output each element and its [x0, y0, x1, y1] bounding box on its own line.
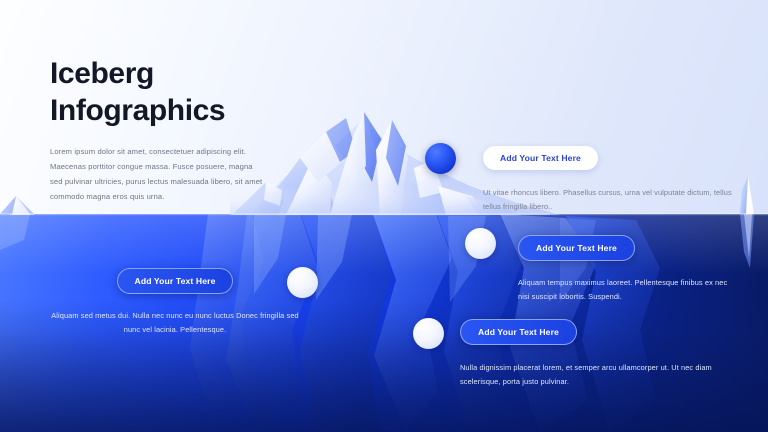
add-text-button-bottom-right[interactable]: Add Your Text Here [460, 319, 577, 345]
callout-body-bottom-right: Nulla dignissim placerat lorem, et sempe… [460, 361, 722, 390]
page-title: Iceberg Infographics [50, 56, 330, 129]
page-title-line2: Infographics [50, 94, 225, 127]
add-text-button-left[interactable]: Add Your Text Here [117, 268, 234, 294]
callout-body-left: Aliquam sed metus dui. Nulla nec nunc eu… [45, 309, 305, 338]
sphere-white-upper [465, 228, 496, 259]
add-text-button-top-right[interactable]: Add Your Text Here [483, 146, 598, 170]
callout-body-top-right: Ut vitae rhoncus libero. Phasellus cursu… [483, 186, 733, 215]
callout-body-mid-right: Aliquam tempus maximus laoreet. Pellente… [518, 276, 733, 305]
callout-left: Add Your Text Here Aliquam sed metus dui… [45, 268, 305, 338]
page-title-line1: Iceberg [50, 57, 154, 90]
callout-mid-right: Add Your Text Here Aliquam tempus maximu… [518, 235, 733, 305]
callout-bottom-right: Add Your Text Here Nulla dignissim place… [460, 319, 722, 390]
sphere-white-lower [413, 318, 444, 349]
slide-canvas: Iceberg Infographics Lorem ipsum dolor s… [0, 0, 768, 432]
headline-block: Iceberg Infographics Lorem ipsum dolor s… [50, 56, 330, 204]
intro-paragraph: Lorem ipsum dolor sit amet, consectetuer… [50, 145, 265, 204]
sphere-blue-peak [425, 143, 456, 174]
callout-top-right: Add Your Text Here Ut vitae rhoncus libe… [483, 146, 733, 215]
add-text-button-mid-right[interactable]: Add Your Text Here [518, 235, 635, 261]
